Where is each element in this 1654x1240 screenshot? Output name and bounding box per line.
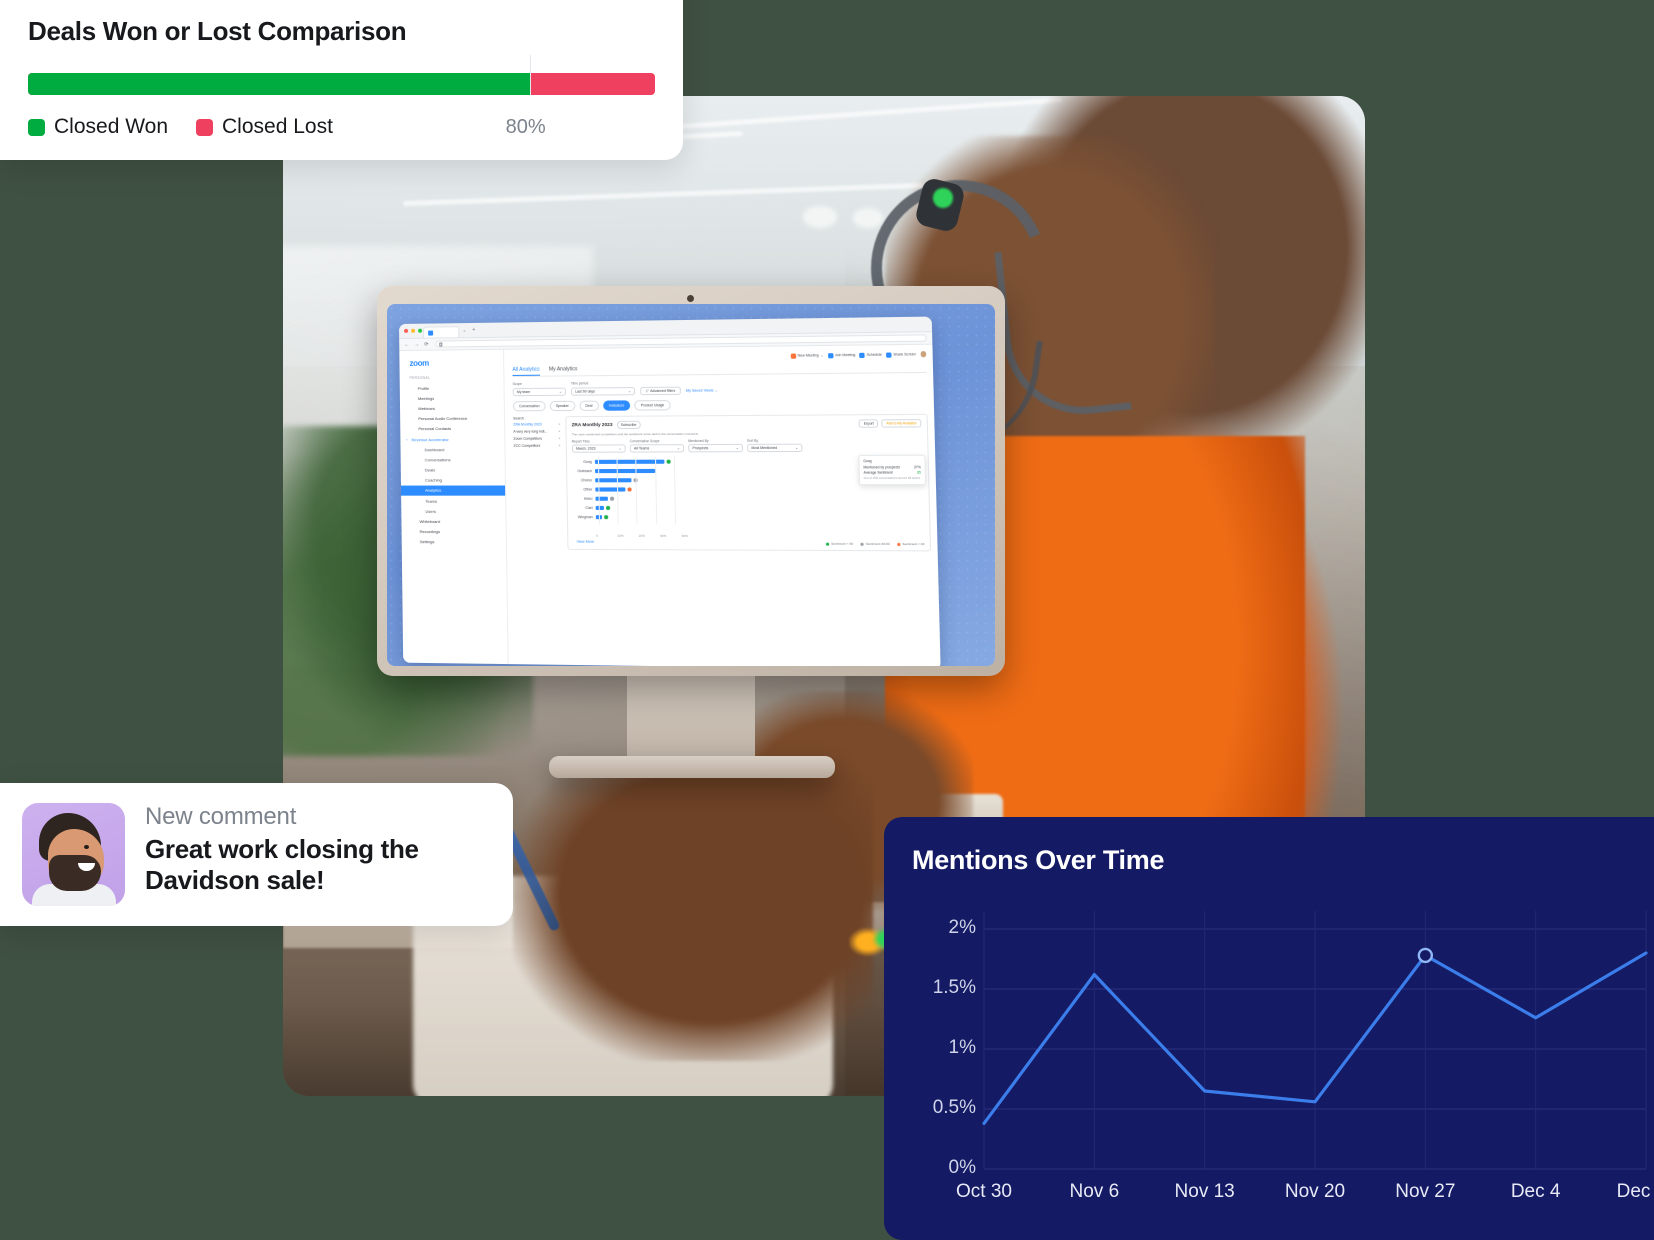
report-description: The most mentioned competitors and the s… [572,430,922,436]
page-title: Deals Won or Lost Comparison [28,16,655,47]
analytics-tabs: All Analytics My Analytics [512,363,926,378]
y-tick-label: 0% [912,1157,976,1179]
search-label: Search [513,416,560,420]
tooltip-row: Mentioned by prospects 37% [863,465,920,469]
webcam-icon [687,295,694,302]
sidebar-group-revenue-accelerator[interactable]: ⌄ Revenue Accelerator [400,434,504,445]
category-chips: Conversation Speaker Deal Indicators Pro… [513,398,928,411]
filter-bar: Scope My team ⌄ Time period [513,379,927,396]
chevron-down-icon: ⌄ [628,389,631,393]
avatar [22,803,125,906]
sidebar-item-teams[interactable]: Teams [401,496,505,506]
my-saved-views-label: My Saved Views [686,388,714,392]
bar-label: Chorus [572,478,595,482]
bar-fill [595,468,656,473]
sort-by-value: Most Mentioned [751,446,777,450]
deals-comparison-card: Deals Won or Lost Comparison Closed Won … [0,0,683,160]
chevron-down-icon: ⌄ [820,353,823,357]
app-sidebar: zoom PERSONAL Profile Meetings Webinars … [399,350,508,664]
sidebar-item-settings[interactable]: Settings [402,537,506,548]
report-time-label: Report Time [572,439,626,443]
bar-label: Aviso [573,496,596,500]
export-button[interactable]: Export [859,419,879,428]
avatar[interactable] [920,351,926,357]
y-tick-label: 1% [912,1037,976,1059]
y-tick-label: 0.5% [912,1097,976,1119]
mentions-line-svg [912,903,1654,1213]
chevron-down-icon: ⌄ [559,389,562,393]
bar-label: Outreach [572,469,595,473]
bar-row: Aviso [573,494,924,503]
filter-icon: ▽ [645,389,648,393]
new-comment-card: New comment Great work closing the David… [0,783,513,926]
content-row: Search ZRA Monthly 2023 × A very very lo… [513,413,931,551]
scope-filter: Scope My team ⌄ [513,382,566,396]
comment-text-block: New comment Great work closing the David… [145,803,491,895]
closed-won-segment [28,73,530,95]
legend-label: Sentiment > 60 [831,542,853,546]
legend-swatch-icon [861,542,865,545]
chevron-down-icon: ⌄ [405,437,408,441]
zoom-logo: zoom [399,354,503,374]
advanced-filters-button[interactable]: ▽ Advanced filters [640,386,681,395]
time-period-select[interactable]: Last 90 days ⌄ [571,387,635,396]
sidebar-item-meetings[interactable]: Meetings [400,392,504,403]
tab-all-analytics[interactable]: All Analytics [512,367,539,377]
x-tick-label: Oct 30 [929,1181,1039,1203]
close-icon[interactable]: × [558,422,560,426]
percent-value: 80% [506,116,546,139]
join-meeting-label: Join Meeting [835,353,856,357]
y-tick-label: 1.5% [912,977,976,999]
bar-label: Other [573,487,596,491]
report-actions: Export Add to My Analytics [859,419,921,429]
sentiment-dot-icon [604,515,608,519]
legend-item-closed-won: Closed Won [28,115,168,139]
time-period-value: Last 90 days [575,389,595,393]
mentioned-by-filter: Mentioned By Prospects ⌄ [688,439,743,453]
browser-window[interactable]: × + ← → ⟳ zoom [399,317,941,666]
comment-heading: New comment [145,803,491,831]
legend-swatch-icon [826,542,829,545]
headset-led-icon [933,188,953,208]
line-chart-plot: 0%0.5%1%1.5%2%Oct 30Nov 6Nov 13Nov 20Nov… [912,903,1654,1213]
search-panel: Search ZRA Monthly 2023 × A very very lo… [513,416,562,550]
tooltip-row: Average Sentiment 85 [864,471,921,475]
sidebar-item-recordings[interactable]: Recordings [402,527,506,538]
x-tick-label: 40% [682,534,704,538]
minimize-icon[interactable] [411,329,415,333]
zoom-favicon-icon [428,330,433,335]
search-item[interactable]: Zoom Competitors × [513,437,560,441]
mentioned-by-select[interactable]: Prospects ⌄ [688,444,743,452]
chevron-down-icon: ⌄ [677,447,680,451]
bar-fill [595,478,631,483]
x-tick-label: Nov 20 [1260,1181,1370,1203]
sidebar-item-coaching[interactable]: Coaching [401,475,505,485]
report-filters: Report Time March, 2023 ⌄ Co [572,438,922,453]
search-item-label: ZRA Monthly 2023 [513,422,542,426]
sentiment-dot-icon [667,459,671,463]
search-item[interactable]: ZCC Competitors × [514,444,561,448]
tab-close-icon[interactable]: × [463,328,465,333]
tooltip-title: Gong [863,458,920,462]
report-time-filter: Report Time March, 2023 ⌄ [572,439,626,453]
close-icon[interactable]: × [558,429,560,433]
back-icon[interactable]: ← [404,341,409,347]
sidebar-item-deals[interactable]: Deals [401,465,505,476]
sort-by-label: Sort By [747,439,802,443]
x-tick-label: 10% [617,534,638,538]
tooltip-note: Out of 200 conversations across all team… [864,477,921,481]
avatar-eye [84,845,89,849]
bar-fill [596,505,604,510]
browser-tab[interactable] [423,326,459,338]
report-panel: ZRA Monthly 2023 Subscribe Export Add to… [565,413,931,551]
conversation-scope-value: All Teams [634,447,649,451]
monitor-screen: × + ← → ⟳ zoom [387,304,995,666]
sidebar-item-personal-contacts[interactable]: Personal Contacts [400,423,504,434]
legend-swatch-icon [28,119,45,136]
chart-title: Mentions Over Time [912,845,1654,876]
bar-row: Wingman [573,512,924,522]
app-main: New Meeting ⌄ Join Meeting [504,345,941,666]
mentioned-by-label: Mentioned By [688,439,743,443]
plus-icon [828,353,833,358]
bar-fill [595,496,607,501]
sentiment-dot-icon [628,487,632,491]
report-header: ZRA Monthly 2023 Subscribe Export Add to… [572,419,922,430]
sidebar-item-analytics[interactable]: Analytics [401,485,505,495]
percent-tick [530,55,531,95]
my-saved-views-link[interactable]: My Saved Views ⌄ [686,388,718,392]
sidebar-item-webinars[interactable]: Webinars [400,403,504,414]
tooltip-row-label: Average Sentiment [864,471,893,475]
chart-tooltip: Gong Mentioned by prospects 37% Average … [858,454,926,485]
tooltip-row-value: 37% [914,465,921,469]
scope-select[interactable]: My team ⌄ [513,387,566,396]
bar-label: Clari [573,506,596,510]
monitor-stand-base [549,756,835,778]
bar-fill [595,487,625,492]
x-tick-label: Dec 4 [1481,1181,1591,1203]
chip-conversation[interactable]: Conversation [513,401,546,411]
bar-row: Clari [573,503,924,513]
x-tick-label: 30% [660,534,682,538]
ceiling-lamp [803,206,837,228]
calendar-icon [860,352,865,357]
conversation-scope-label: Conversation Scope [630,439,684,443]
share-screen-button[interactable]: Share Screen [886,352,916,358]
bar-chart-x-axis: 010%20%30%40% [573,534,924,539]
schedule-label: Schedule [867,353,882,357]
chip-deal[interactable]: Deal [579,400,599,410]
x-tick-label: Dec 11 [1591,1181,1654,1203]
new-tab-icon[interactable]: + [472,327,475,333]
scope-label: Scope [513,382,566,387]
legend-swatch-icon [897,543,901,546]
sort-by-filter: Sort By Most Mentioned ⌄ [747,439,803,453]
tab-my-analytics[interactable]: My Analytics [549,366,578,376]
comment-body: Great work closing the Davidson sale! [145,834,491,895]
top-action-bar: New Meeting ⌄ Join Meeting [512,349,926,364]
chevron-down-icon: ⌄ [619,447,622,451]
new-meeting-label: New Meeting [798,353,819,357]
search-item-label: A very very long indi... [513,430,547,434]
legend-label: Closed Lost [222,115,333,139]
view-more-link[interactable]: View More [577,540,595,544]
x-tick-label: Nov 13 [1150,1181,1260,1203]
legend-item-closed-lost: Closed Lost [196,115,333,139]
sentiment-legend: Sentiment > 60 Sentiment 40-60 [574,541,925,546]
sidebar-item-whiteboard[interactable]: Whiteboard [401,516,505,527]
share-screen-label: Share Screen [893,352,916,356]
chevron-down-icon: ⌄ [736,446,739,450]
sentiment-dot-icon [606,506,610,510]
subscribe-button[interactable]: Subscribe [617,421,641,430]
advanced-filters-label: Advanced filters [650,388,675,392]
close-icon[interactable]: × [558,437,560,441]
deals-progress-bar [28,73,655,95]
report-time-select[interactable]: March, 2023 ⌄ [572,445,626,453]
bar-label: Gong [572,460,595,464]
chevron-down-icon: ⌄ [795,446,798,450]
monitor-bezel: × + ← → ⟳ zoom [377,286,1005,676]
time-period-filter: Time period Last 90 days ⌄ [571,381,635,395]
reload-icon[interactable]: ⟳ [424,341,428,347]
sidebar-item-users[interactable]: Users [401,506,505,516]
avatar-beard [49,855,101,891]
schedule-button[interactable]: Schedule [860,352,882,357]
screenshot-root: × + ← → ⟳ zoom [0,0,1654,1240]
chip-product-usage[interactable]: Product Usage [634,400,670,411]
bar-label: Wingman [573,515,596,519]
join-meeting-button[interactable]: Join Meeting [828,352,856,357]
legend-item: Sentiment > 60 [826,542,853,546]
app-body: zoom PERSONAL Profile Meetings Webinars … [399,345,940,666]
lock-icon [439,343,442,346]
x-tick-label: Nov 27 [1370,1181,1480,1203]
sort-by-select[interactable]: Most Mentioned ⌄ [747,444,802,452]
deals-legend: Closed Won Closed Lost 80% [28,115,655,139]
close-icon[interactable] [404,329,408,333]
report-title: ZRA Monthly 2023 [572,422,613,427]
search-item-label: Zoom Competitors [513,437,542,441]
x-tick-label: Nov 6 [1039,1181,1149,1203]
monitor-stand-neck [627,672,755,764]
conversation-scope-select[interactable]: All Teams ⌄ [630,444,684,452]
y-tick-label: 2% [912,917,976,939]
mentioned-by-value: Prospects [692,446,708,450]
x-tick-label: 20% [639,534,660,538]
share-icon [886,352,892,357]
chip-indicators[interactable]: Indicators [603,400,631,410]
legend-item: Sentiment < 40 [897,542,924,546]
tooltip-row-value: 85 [917,471,921,475]
search-item[interactable]: ZRA Monthly 2023 × [513,422,560,426]
mentions-over-time-card: Mentions Over Time 0%0.5%1%1.5%2%Oct 30N… [884,817,1654,1240]
x-tick-label: 0 [596,534,617,538]
window-controls[interactable] [404,329,422,333]
tooltip-row-label: Mentioned by prospects [863,465,900,469]
add-to-my-analytics-button[interactable]: Add to My Analytics [882,419,922,428]
sidebar-item-dashboard[interactable]: Dashboard [400,444,504,455]
close-icon[interactable]: × [559,444,561,448]
maximize-icon[interactable] [418,329,422,333]
bar-row: Other [573,484,924,494]
search-item[interactable]: A very very long indi... × [513,429,560,433]
forward-icon[interactable]: → [414,341,419,347]
time-period-label: Time period [571,381,635,386]
conversation-scope-filter: Conversation Scope All Teams ⌄ [630,439,684,453]
new-meeting-button[interactable]: New Meeting ⌄ [791,353,824,359]
scope-value: My team [517,390,530,394]
report-time-value: March, 2023 [576,447,596,451]
legend-label: Sentiment < 40 [902,542,924,546]
legend-label: Sentiment 40-60 [866,542,890,546]
legend-swatch-icon [196,119,213,136]
video-icon [791,353,796,358]
sentiment-dot-icon [610,496,614,500]
legend-label: Closed Won [54,115,168,139]
sidebar-item-personal-audio-conference[interactable]: Personal Audio Conference [400,413,504,424]
chip-speaker[interactable]: Speaker [550,400,575,410]
legend-item: Sentiment 40-60 [861,542,890,546]
sidebar-group-label: Revenue Accelerator [411,437,448,442]
search-item-label: ZCC Competitors [514,444,541,448]
sidebar-item-conversations[interactable]: Conversations [401,454,505,465]
highlighted-data-point [1419,949,1432,962]
